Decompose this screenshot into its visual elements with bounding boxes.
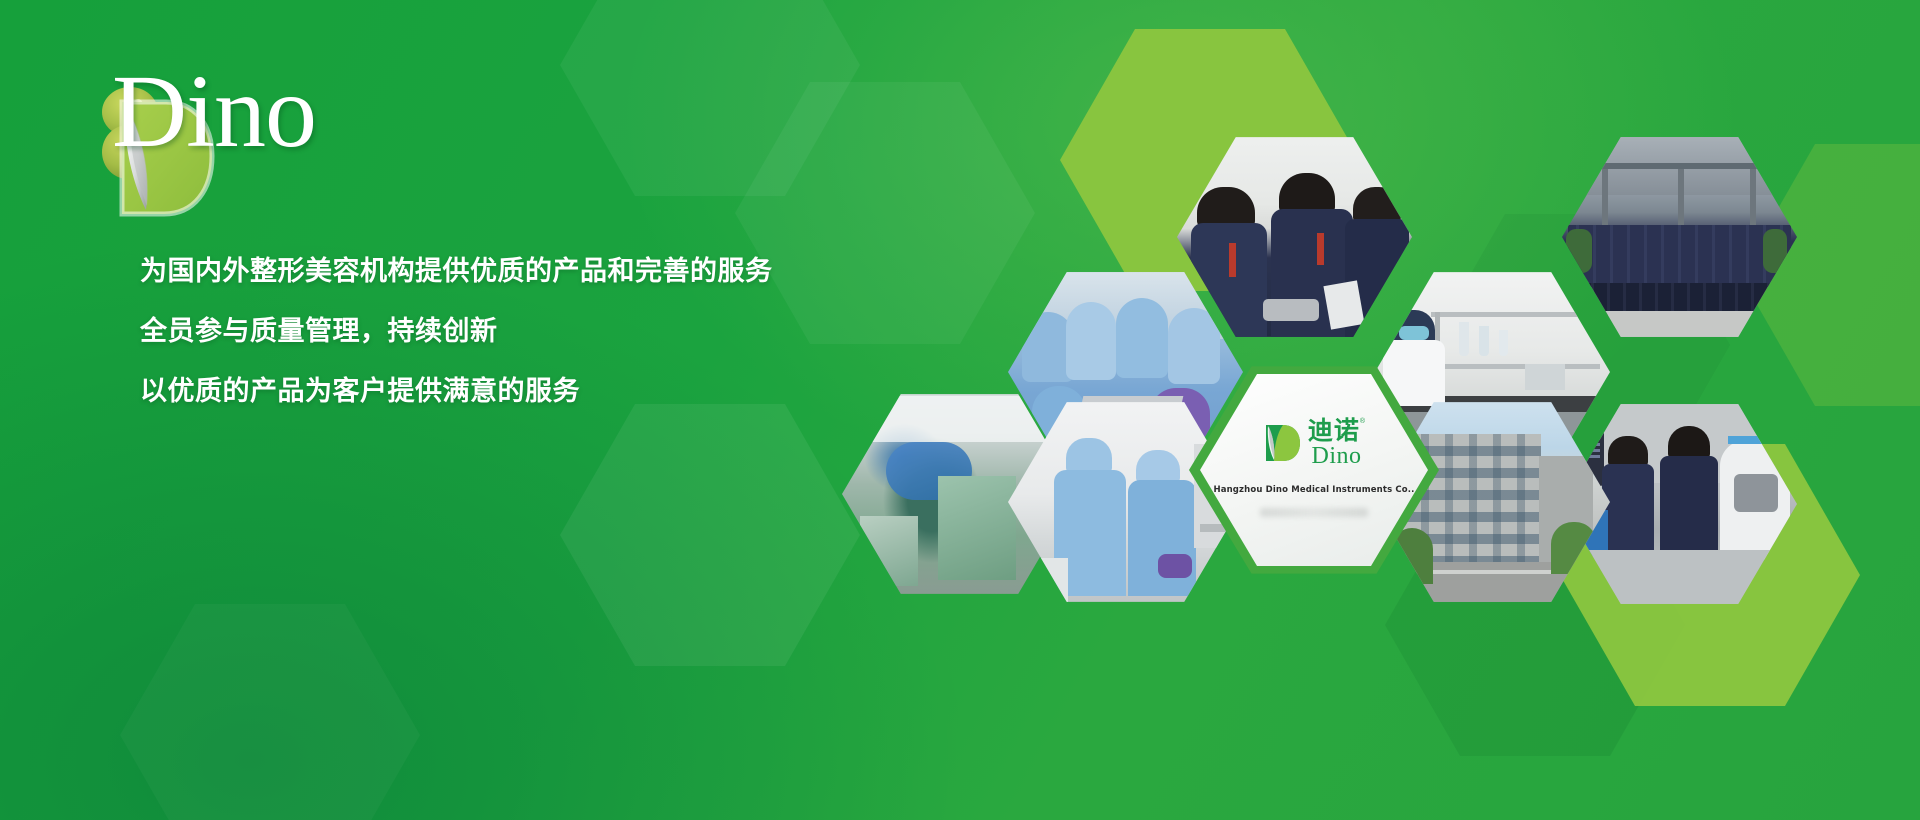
center-brand-cn: 迪诺	[1308, 418, 1360, 443]
photo-hex-company-group-photo	[1562, 133, 1797, 341]
background-hexagon-dark-1	[560, 0, 860, 200]
background-hexagon-dark-5	[120, 600, 420, 820]
center-brand-row: 迪诺 ® Dino	[1263, 418, 1365, 468]
slogan-line-1: 为国内外整形美容机构提供优质的产品和完善的服务	[140, 258, 900, 285]
center-company-name: Hangzhou Dino Medical Instruments Co..	[1213, 485, 1414, 495]
brand-logo: Dino	[92, 68, 512, 188]
slogan-list: 为国内外整形美容机构提供优质的产品和完善的服务 全员参与质量管理，持续创新 以优…	[140, 258, 900, 438]
center-blurred-subtext	[1260, 508, 1368, 517]
slogan-line-3: 以优质的产品为客户提供满意的服务	[140, 378, 900, 405]
center-brand-en: Dino	[1312, 444, 1362, 468]
background-hexagon-dark-3	[560, 400, 860, 670]
slogan-line-2: 全员参与质量管理，持续创新	[140, 318, 900, 345]
hero-banner: 迪诺 ® Dino Hangzhou Dino Medical Instrume…	[0, 0, 1920, 820]
leaf-d-logo-icon	[1263, 423, 1301, 463]
brand-wordmark: Dino	[112, 60, 316, 164]
center-brand-registered-mark: ®	[1360, 418, 1365, 425]
photo-hex-engineers-inspecting-part	[1177, 133, 1412, 341]
